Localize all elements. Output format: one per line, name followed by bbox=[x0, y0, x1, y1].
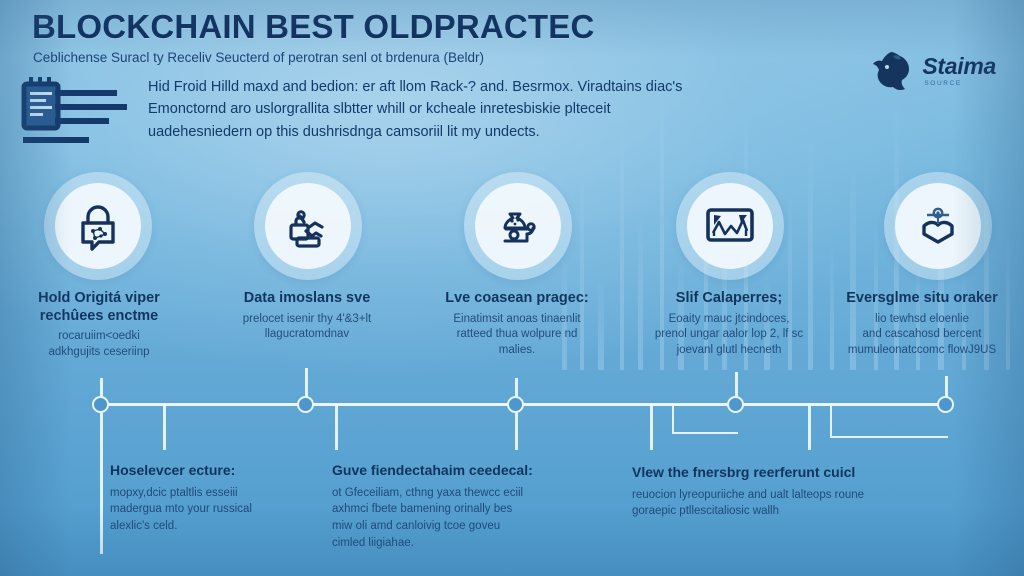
timeline-node[interactable] bbox=[937, 396, 954, 413]
note-block-2: Guve fiendectahaim ceedecal: ot Gfeceili… bbox=[332, 462, 580, 551]
step-icon-circle-2[interactable] bbox=[254, 172, 362, 280]
logo-tagline: SOURCE bbox=[924, 81, 996, 88]
brand-logo: Staima SOURCE bbox=[869, 50, 996, 92]
step-caption-3: Lve coasean pragec: Einatimsit anoas tin… bbox=[422, 290, 612, 358]
step-body-3: Einatimsit anoas tinaenlitratteed thua w… bbox=[422, 312, 612, 359]
step-body-1: rocaruiim<oedkiadkhgujits ceseriinp bbox=[14, 329, 184, 360]
timeline-node[interactable] bbox=[92, 396, 109, 413]
intro-line-3: uadehesniedern op this dushrisdnga camso… bbox=[148, 121, 678, 143]
page-title: BLOCKCHAIN BEST OLDPRACTEC bbox=[32, 10, 732, 44]
intro-paragraph: Hid Froid Hilld maxd and bedion: er aft … bbox=[148, 76, 678, 143]
circle-inner-4 bbox=[687, 183, 773, 269]
intro-line-2: Emonctornd aro uslorgrallita slbtter whi… bbox=[148, 98, 678, 120]
circle-inner-5 bbox=[895, 183, 981, 269]
step-heading-5: Eversglme situ oraker bbox=[824, 290, 1020, 308]
step-caption-2: Data imoslans sve prelocet isenir thy 4'… bbox=[212, 290, 402, 343]
step-icon-circle-1[interactable] bbox=[44, 172, 152, 280]
timeline-stem-down-1 bbox=[100, 404, 103, 554]
note-body-2: ot Gfeceiliam, cthng yaxa thewcc eciilax… bbox=[332, 485, 580, 552]
page-subtitle: Ceblichense Suracl ty Receliv Seucterd o… bbox=[33, 50, 683, 66]
note-block-3: Vlew the fnersbrg reerferunt cuicl reuoc… bbox=[632, 464, 900, 520]
circle-inner-2 bbox=[265, 183, 351, 269]
infographic-canvas: BLOCKCHAIN BEST OLDPRACTEC Ceblichense S… bbox=[0, 0, 1024, 576]
step-heading-3: Lve coasean pragec: bbox=[422, 290, 612, 308]
step-caption-5: Eversglme situ oraker lio tewhsd eloenli… bbox=[824, 290, 1020, 358]
intro-line-1: Hid Froid Hilld maxd and bedion: er aft … bbox=[148, 76, 678, 98]
step-caption-1: Hold Origitá viperrechûees enctme rocaru… bbox=[14, 290, 184, 360]
circle-inner-3 bbox=[475, 183, 561, 269]
note-heading-3: Vlew the fnersbrg reerferunt cuicl bbox=[632, 464, 900, 482]
money-bag-laptop-icon bbox=[490, 198, 546, 254]
bull-logo-icon bbox=[869, 50, 915, 92]
step-icon-circle-5[interactable] bbox=[884, 172, 992, 280]
step-heading-1: Hold Origitá viperrechûees enctme bbox=[14, 290, 184, 325]
chart-monitor-icon bbox=[701, 200, 759, 252]
timeline-stem-down-3 bbox=[335, 404, 338, 450]
note-body-1: mopxy,dcic ptaltlis esseiiimadergua mto … bbox=[110, 485, 318, 535]
timeline-node[interactable] bbox=[727, 396, 744, 413]
step-icon-circle-4[interactable] bbox=[676, 172, 784, 280]
padlock-icon bbox=[70, 198, 126, 254]
step-body-4: Eoaity mauc jtcindoces,prenol ungar aalo… bbox=[628, 312, 830, 359]
note-heading-1: Hoselevcer ecture: bbox=[110, 462, 318, 480]
timeline-node[interactable] bbox=[297, 396, 314, 413]
note-heading-2: Guve fiendectahaim ceedecal: bbox=[332, 462, 580, 480]
timeline-stem-down-6 bbox=[808, 404, 811, 450]
step-icon-circle-3[interactable] bbox=[464, 172, 572, 280]
clipboard-document-icon bbox=[14, 72, 134, 156]
handshake-briefcase-icon bbox=[280, 198, 336, 254]
timeline-elbow-1 bbox=[672, 406, 738, 434]
timeline-node[interactable] bbox=[507, 396, 524, 413]
timeline-stem-down-5 bbox=[650, 404, 653, 450]
step-heading-4: Slif Calaperres; bbox=[628, 290, 830, 308]
shield-badge-icon bbox=[910, 198, 966, 254]
timeline-elbow-2 bbox=[830, 406, 948, 438]
step-body-2: prelocet isenir thy 4'&3+ltllagucratomdn… bbox=[212, 312, 402, 343]
logo-name: Staima bbox=[922, 55, 996, 78]
step-caption-4: Slif Calaperres; Eoaity mauc jtcindoces,… bbox=[628, 290, 830, 358]
note-body-3: reuocion lyreopuriiche and ualt lalteops… bbox=[632, 487, 900, 520]
note-block-1: Hoselevcer ecture: mopxy,dcic ptaltlis e… bbox=[110, 462, 318, 535]
timeline-stem-down-2 bbox=[163, 404, 166, 450]
circle-inner-1 bbox=[55, 183, 141, 269]
step-heading-2: Data imoslans sve bbox=[212, 290, 402, 308]
step-body-5: lio tewhsd eloenlieand cascahosd bercent… bbox=[824, 312, 1020, 359]
